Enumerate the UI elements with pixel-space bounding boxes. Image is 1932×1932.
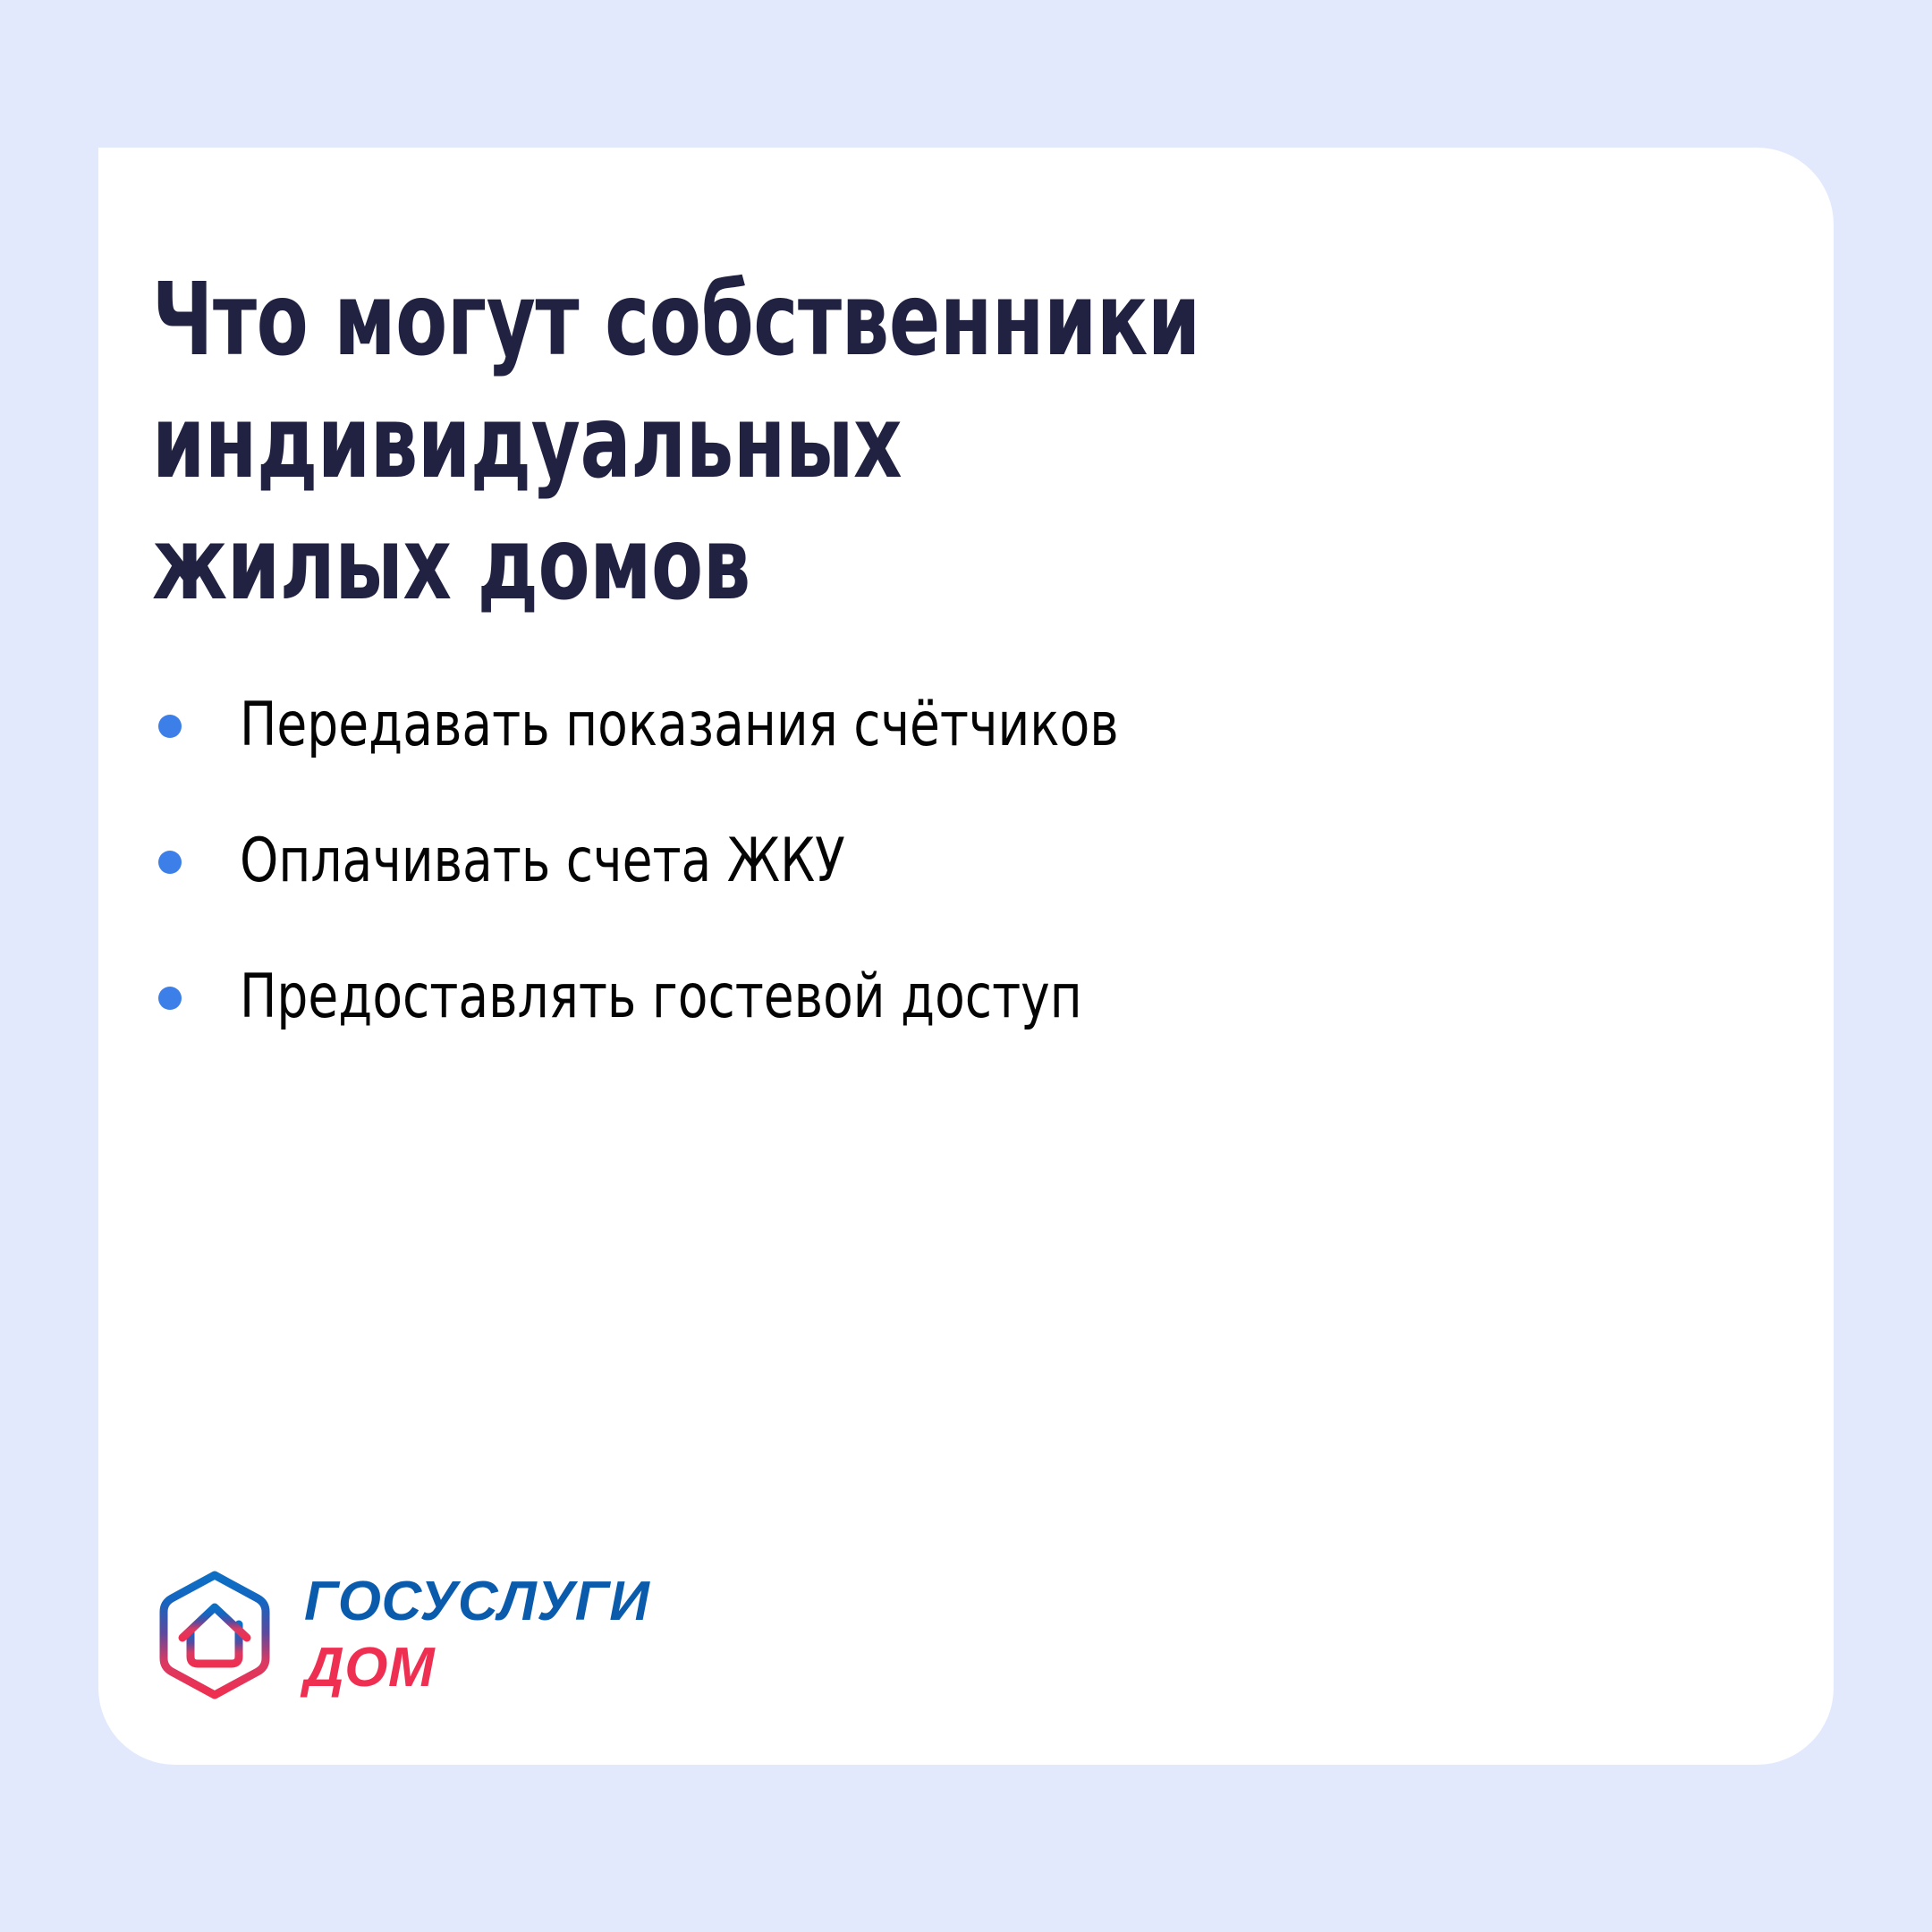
brand-logo: ГОСУСЛУГИ ДОМ <box>152 1570 649 1700</box>
bullet-dot-icon <box>158 715 182 738</box>
list-item: Предоставлять гостевой доступ <box>148 965 1579 1055</box>
capabilities-list: Передавать показания счётчиков Оплачиват… <box>148 693 1579 1055</box>
list-item-label: Передавать показания счётчиков <box>240 693 1445 757</box>
bullet-dot-icon <box>158 987 182 1010</box>
list-item-label: Предоставлять гостевой доступ <box>240 965 1445 1029</box>
list-item-label: Оплачивать счета ЖКУ <box>240 829 1445 893</box>
brand-wordmark: ГОСУСЛУГИ ДОМ <box>304 1574 649 1696</box>
house-hexagon-icon <box>152 1570 277 1700</box>
content-card: Что могут собственники индивидуальных жи… <box>98 148 1834 1765</box>
slide-canvas: Что могут собственники индивидуальных жи… <box>0 0 1932 1932</box>
list-item: Передавать показания счётчиков <box>148 693 1579 783</box>
page-title: Что могут собственники индивидуальных жи… <box>152 259 1279 626</box>
brand-word-dom: ДОМ <box>304 1640 649 1696</box>
list-item: Оплачивать счета ЖКУ <box>148 829 1579 919</box>
brand-word-gosuslugi: ГОСУСЛУГИ <box>304 1574 649 1630</box>
bullet-dot-icon <box>158 851 182 874</box>
